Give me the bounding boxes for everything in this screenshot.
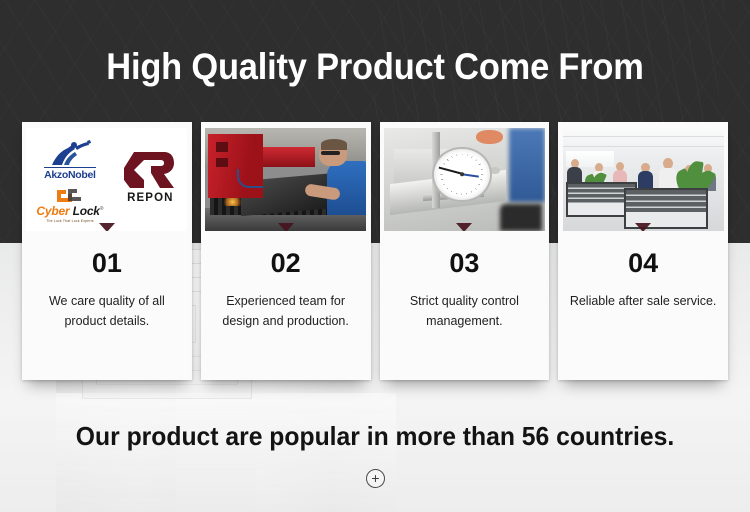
- feature-card-04[interactable]: 04 Reliable after sale service.: [558, 122, 728, 380]
- chevron-down-icon: [635, 223, 651, 231]
- feature-card-02[interactable]: 02 Experienced team for design and produ…: [201, 122, 371, 380]
- akzonobel-figure-icon: [44, 140, 96, 166]
- footer-tagline: Our product are popular in more than 56 …: [19, 420, 732, 452]
- repon-r-icon: [124, 150, 176, 190]
- akzonobel-wordmark: AkzoNobel: [44, 167, 96, 181]
- card-description: Experienced team for design and producti…: [211, 291, 361, 331]
- dial-caliper-measurement-image: [384, 128, 545, 231]
- cyberlock-wordmark: Cyber Lock®: [36, 203, 103, 218]
- brand-logos-image: AkzoNobel Cyber Lock® Th: [26, 128, 187, 231]
- card-number: 04: [628, 249, 658, 278]
- page-title: High Quality Product Come From: [26, 44, 724, 90]
- feature-card-03[interactable]: 03 Strict quality control management.: [380, 122, 550, 380]
- chevron-down-icon: [278, 223, 294, 231]
- dial-gauge-icon: [432, 147, 492, 203]
- chevron-down-icon: [456, 223, 472, 231]
- chevron-down-icon: [99, 223, 115, 231]
- card-number: 03: [449, 249, 479, 278]
- promo-banner: High Quality Product Come From: [0, 0, 750, 512]
- cnc-machine-operator-image: [205, 128, 366, 231]
- card-number: 01: [92, 249, 122, 278]
- feature-card-01[interactable]: AkzoNobel Cyber Lock® Th: [22, 122, 192, 380]
- zoom-in-plus-icon[interactable]: +: [366, 469, 385, 488]
- card-description: We care quality of all product details.: [32, 291, 182, 331]
- cyberlock-tagline: The Lock That Lock Experts: [46, 219, 93, 223]
- feature-card-list: AkzoNobel Cyber Lock® Th: [22, 122, 728, 380]
- cyberlock-lock-icon: [55, 188, 85, 203]
- card-description: Reliable after sale service.: [568, 291, 718, 311]
- office-team-image: [563, 128, 724, 231]
- repon-wordmark: REPON: [127, 192, 173, 204]
- card-number: 02: [271, 249, 301, 278]
- card-description: Strict quality control management.: [389, 291, 539, 331]
